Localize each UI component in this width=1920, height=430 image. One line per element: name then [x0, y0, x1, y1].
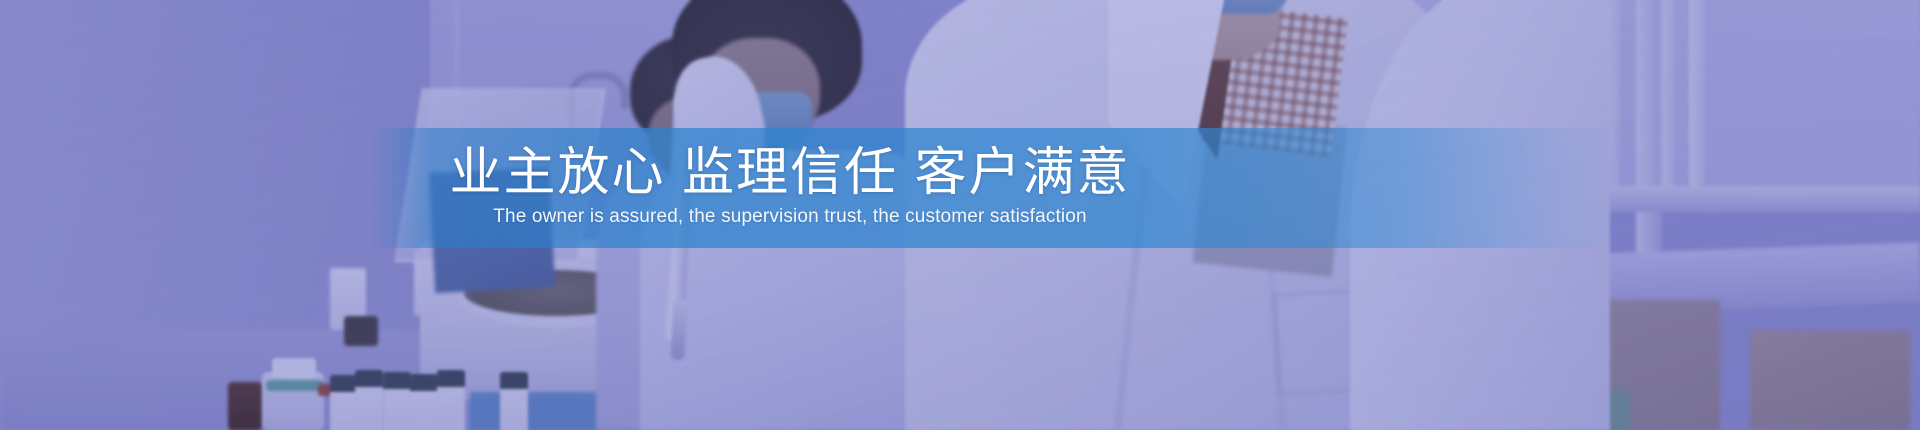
slogan-subheadline: The owner is assured, the supervision tr… [493, 206, 1086, 229]
bottle-ring [266, 380, 324, 391]
storage-box [1750, 330, 1910, 430]
power-plug-icon [344, 316, 378, 346]
test-tube-vial [330, 375, 358, 430]
test-tube-vial [383, 372, 411, 430]
bottle-cap [272, 358, 316, 378]
test-tube-vial [410, 374, 438, 430]
test-tube-vial [437, 370, 465, 430]
test-tube-vial [355, 370, 383, 430]
slogan-text-block: 业主放心 监理信任 客户满意 The owner is assured, the… [0, 128, 1580, 248]
hero-banner: 业主放心 监理信任 客户满意 The owner is assured, the… [0, 0, 1920, 430]
test-tube-vial [500, 372, 528, 430]
reagent-bottle [228, 382, 262, 430]
window-blind-icon [1689, 0, 1705, 190]
slogan-headline: 业主放心 监理信任 客户满意 [450, 147, 1131, 200]
